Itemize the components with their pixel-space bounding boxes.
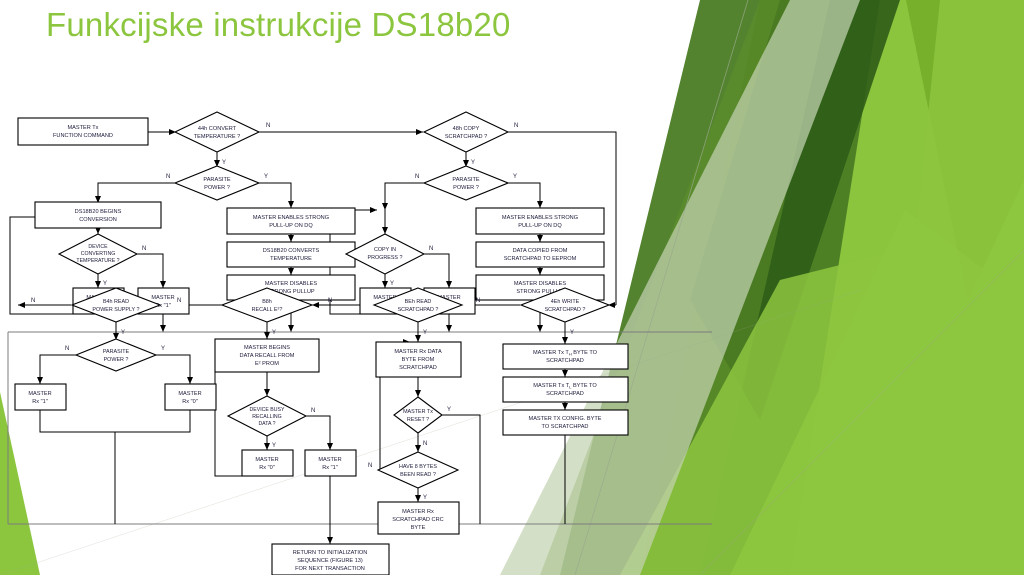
- svg-text:MASTER TX CONFIG. BYTE: MASTER TX CONFIG. BYTE: [529, 416, 602, 422]
- svg-text:PROGRESS ?: PROGRESS ?: [367, 255, 402, 261]
- flowchart: MASTER Tx FUNCTION COMMAND 44h CONVERT T…: [0, 52, 720, 575]
- svg-text:B4h READ: B4h READ: [103, 299, 129, 305]
- branch-label-no: N: [31, 298, 35, 304]
- svg-text:SCRATCHPAD: SCRATCHPAD: [546, 391, 584, 397]
- branch-label-no: N: [514, 123, 518, 129]
- node-copy-in-progress: COPY IN PROGRESS ? N Y: [346, 234, 433, 287]
- node-master-tx-th-byte: MASTER Tx TH BYTE TO SCRATCHPAD: [503, 344, 628, 369]
- branch-label-no: N: [65, 346, 69, 352]
- node-master-rx-1-c: MASTER Rx "1": [15, 384, 66, 410]
- node-master-rx-0-d: MASTER Rx "0": [242, 450, 293, 476]
- svg-text:MASTER ENABLES STRONG: MASTER ENABLES STRONG: [253, 215, 329, 221]
- node-44h-convert-temperature: 44h CONVERT TEMPERATURE ? N Y: [175, 112, 270, 166]
- svg-text:Rx "1": Rx "1": [322, 465, 337, 471]
- svg-text:CONVERSION: CONVERSION: [79, 217, 117, 223]
- svg-text:44h CONVERT: 44h CONVERT: [198, 126, 237, 132]
- branch-label-yes: Y: [272, 443, 276, 449]
- svg-text:PULL-UP ON DQ: PULL-UP ON DQ: [518, 223, 562, 229]
- svg-text:CONVERTING: CONVERTING: [81, 251, 116, 257]
- svg-text:MASTER Rx DATA: MASTER Rx DATA: [394, 349, 442, 355]
- svg-text:FUNCTION COMMAND: FUNCTION COMMAND: [53, 133, 113, 139]
- node-master-tx-config-byte: MASTER TX CONFIG. BYTE TO SCRATCHPAD: [503, 410, 628, 435]
- node-parasite-power-3: PARASITE POWER ? N Y: [65, 339, 165, 371]
- svg-text:MASTER BEGINS: MASTER BEGINS: [244, 345, 290, 351]
- svg-text:Rx "1": Rx "1": [32, 399, 47, 405]
- deco-hairline-2: [700, 250, 1024, 575]
- svg-text:Rx "0": Rx "0": [259, 465, 274, 471]
- svg-text:DEVICE: DEVICE: [88, 244, 108, 250]
- svg-text:SCRATCHPAD: SCRATCHPAD: [399, 365, 437, 371]
- svg-text:PULL-UP ON DQ: PULL-UP ON DQ: [269, 223, 313, 229]
- branch-label-no: N: [177, 298, 181, 304]
- deco-shape-3: [700, 0, 1024, 575]
- page-title: Funkcijske instrukcije DS18b20: [46, 4, 511, 46]
- svg-text:POWER ?: POWER ?: [204, 185, 230, 191]
- svg-text:MASTER: MASTER: [28, 391, 51, 397]
- node-device-converting-temperature: DEVICE CONVERTING TEMPERATURE ? N Y: [59, 234, 146, 287]
- svg-text:RECALL E²?: RECALL E²?: [252, 307, 283, 313]
- svg-text:SEQUENCE (FIGURE 13): SEQUENCE (FIGURE 13): [297, 558, 363, 564]
- branch-label-no: N: [266, 123, 270, 129]
- branch-label-no: N: [476, 298, 480, 304]
- branch-label-no: N: [423, 441, 427, 447]
- node-ds18b20-converts-temperature: DS18B20 CONVERTS TEMPERATURE: [227, 242, 355, 267]
- svg-text:DS18B20 CONVERTS: DS18B20 CONVERTS: [263, 248, 320, 254]
- branch-label-yes: Y: [570, 330, 574, 336]
- node-return-to-initialization: RETURN TO INITIALIZATION SEQUENCE (FIGUR…: [272, 544, 389, 575]
- svg-text:POWER ?: POWER ?: [453, 185, 479, 191]
- svg-text:DATA COPIED FROM: DATA COPIED FROM: [513, 248, 568, 254]
- svg-text:B8h: B8h: [262, 299, 272, 305]
- branch-label-yes: Y: [222, 160, 226, 166]
- svg-text:SCRATCHPAD ?: SCRATCHPAD ?: [545, 307, 586, 313]
- node-master-tx-reset: MASTER Tx RESET ? Y N: [394, 397, 451, 447]
- svg-text:SCRATCHPAD: SCRATCHPAD: [546, 358, 584, 364]
- svg-text:MASTER Tx: MASTER Tx: [403, 409, 433, 415]
- svg-text:RECALLING: RECALLING: [252, 414, 281, 420]
- branch-label-no: N: [166, 174, 170, 180]
- svg-text:MASTER: MASTER: [318, 457, 341, 463]
- node-master-begins-data-recall: MASTER BEGINS DATA RECALL FROM E² PROM: [215, 339, 319, 372]
- svg-text:PARASITE: PARASITE: [103, 349, 130, 355]
- svg-text:BEEN READ ?: BEEN READ ?: [400, 472, 436, 478]
- branch-label-yes: Y: [264, 174, 268, 180]
- node-master-rx-scratchpad-crc: MASTER Rx SCRATCHPAD CRC BYTE: [378, 502, 459, 534]
- node-have-8-bytes-been-read: HAVE 8 BYTES BEEN READ ? N Y: [368, 452, 458, 501]
- svg-text:4Eh WRITE: 4Eh WRITE: [551, 299, 580, 305]
- svg-text:SCRATCHPAD TO EEPROM: SCRATCHPAD TO EEPROM: [504, 256, 577, 262]
- svg-text:BEh READ: BEh READ: [405, 299, 432, 305]
- svg-text:MASTER: MASTER: [178, 391, 201, 397]
- node-parasite-power-1: PARASITE POWER ? N Y: [166, 166, 268, 200]
- deco-shape-9: [730, 210, 1024, 575]
- node-master-enables-strong-pullup-2: MASTER ENABLES STRONG PULL-UP ON DQ: [476, 208, 604, 234]
- branch-label-yes: Y: [471, 160, 475, 166]
- svg-text:TEMPERATURE ?: TEMPERATURE ?: [76, 258, 119, 264]
- node-master-rx-0-c: MASTER Rx "0": [165, 384, 216, 410]
- svg-text:SCRATCHPAD CRC: SCRATCHPAD CRC: [392, 517, 443, 523]
- svg-text:DEVICE BUSY: DEVICE BUSY: [250, 407, 285, 413]
- branch-label-no: N: [429, 246, 433, 252]
- svg-text:RETURN TO INITIALIZATION: RETURN TO INITIALIZATION: [293, 550, 368, 556]
- svg-text:DS18B20 BEGINS: DS18B20 BEGINS: [75, 209, 122, 215]
- node-master-rx-1-d: MASTER Rx "1": [305, 450, 356, 476]
- node-master-enables-strong-pullup-1: MASTER ENABLES STRONG PULL-UP ON DQ: [227, 208, 355, 234]
- flowchart-svg: MASTER Tx FUNCTION COMMAND 44h CONVERT T…: [0, 52, 720, 575]
- node-master-rx-data-byte: MASTER Rx DATA BYTE FROM SCRATCHPAD: [376, 342, 461, 377]
- svg-text:MASTER Tx TH BYTE TO: MASTER Tx TH BYTE TO: [533, 350, 598, 356]
- node-master-tx-function-command: MASTER Tx FUNCTION COMMAND: [18, 118, 148, 145]
- branch-label-no: N: [368, 463, 372, 469]
- deco-shape-5: [690, 0, 900, 420]
- svg-text:PARASITE: PARASITE: [203, 177, 231, 183]
- node-48h-copy-scratchpad: 48h COPY SCRATCHPAD ? N Y: [424, 112, 518, 166]
- node-master-tx-tl-byte: MASTER Tx TL BYTE TO SCRATCHPAD: [503, 377, 628, 402]
- branch-label-yes: Y: [161, 346, 165, 352]
- svg-text:TEMPERATURE: TEMPERATURE: [270, 256, 312, 262]
- svg-text:MASTER: MASTER: [151, 295, 174, 301]
- svg-text:TO SCRATCHPAD: TO SCRATCHPAD: [542, 424, 589, 430]
- branch-label-no: N: [328, 298, 332, 304]
- branch-label-yes: Y: [447, 407, 451, 413]
- branch-label-yes: Y: [390, 281, 394, 287]
- svg-text:MASTER DISABLES: MASTER DISABLES: [514, 281, 566, 287]
- svg-text:BYTE: BYTE: [411, 525, 426, 531]
- flowchart-connectors: [8, 132, 712, 544]
- svg-text:TEMPERATURE ?: TEMPERATURE ?: [194, 134, 241, 140]
- node-device-busy-recalling-data: DEVICE BUSY RECALLING DATA ? N Y: [228, 396, 315, 449]
- svg-text:MASTER DISABLES: MASTER DISABLES: [265, 281, 317, 287]
- branch-label-yes: Y: [272, 330, 276, 336]
- svg-text:MASTER Tx: MASTER Tx: [68, 125, 99, 131]
- branch-label-yes: Y: [103, 281, 107, 287]
- slide: Funkcijske instrukcije DS18b20: [0, 0, 1024, 575]
- svg-text:POWER ?: POWER ?: [104, 357, 129, 363]
- svg-text:Rx "0": Rx "0": [182, 399, 197, 405]
- svg-text:FOR NEXT TRANSACTION: FOR NEXT TRANSACTION: [295, 566, 365, 572]
- branch-label-no: N: [311, 408, 315, 414]
- branch-label-yes: Y: [423, 330, 427, 336]
- svg-text:SCRATCHPAD ?: SCRATCHPAD ?: [398, 307, 439, 313]
- svg-text:48h COPY: 48h COPY: [453, 126, 480, 132]
- svg-text:DATA ?: DATA ?: [258, 421, 275, 427]
- svg-text:MASTER Tx TL BYTE TO: MASTER Tx TL BYTE TO: [533, 383, 597, 389]
- svg-text:MASTER: MASTER: [255, 457, 278, 463]
- svg-text:DATA RECALL FROM: DATA RECALL FROM: [240, 353, 295, 359]
- deco-shape-1: [700, 0, 1024, 575]
- node-ds18b20-begins-conversion: DS18B20 BEGINS CONVERSION: [35, 202, 161, 228]
- branch-label-yes: Y: [513, 174, 517, 180]
- svg-text:MASTER Rx: MASTER Rx: [402, 509, 434, 515]
- branch-label-no: N: [142, 246, 146, 252]
- deco-shape-10: [880, 0, 1024, 575]
- svg-text:PARASITE: PARASITE: [452, 177, 480, 183]
- svg-text:MASTER ENABLES STRONG: MASTER ENABLES STRONG: [502, 215, 578, 221]
- branch-label-yes: Y: [423, 495, 427, 501]
- svg-text:BYTE FROM: BYTE FROM: [402, 357, 435, 363]
- node-data-copied-from-scratchpad: DATA COPIED FROM SCRATCHPAD TO EEPROM: [476, 242, 604, 267]
- node-parasite-power-2: PARASITE POWER ? N Y: [415, 166, 517, 200]
- svg-text:SCRATCHPAD ?: SCRATCHPAD ?: [445, 134, 487, 140]
- svg-text:RESET ?: RESET ?: [407, 417, 429, 423]
- branch-label-no: N: [415, 174, 419, 180]
- svg-text:COPY IN: COPY IN: [374, 247, 396, 253]
- branch-label-yes: Y: [121, 330, 125, 336]
- svg-text:POWER SUPPLY ?: POWER SUPPLY ?: [92, 307, 139, 313]
- svg-text:HAVE 8 BYTES: HAVE 8 BYTES: [399, 464, 437, 470]
- svg-text:E² PROM: E² PROM: [255, 361, 279, 367]
